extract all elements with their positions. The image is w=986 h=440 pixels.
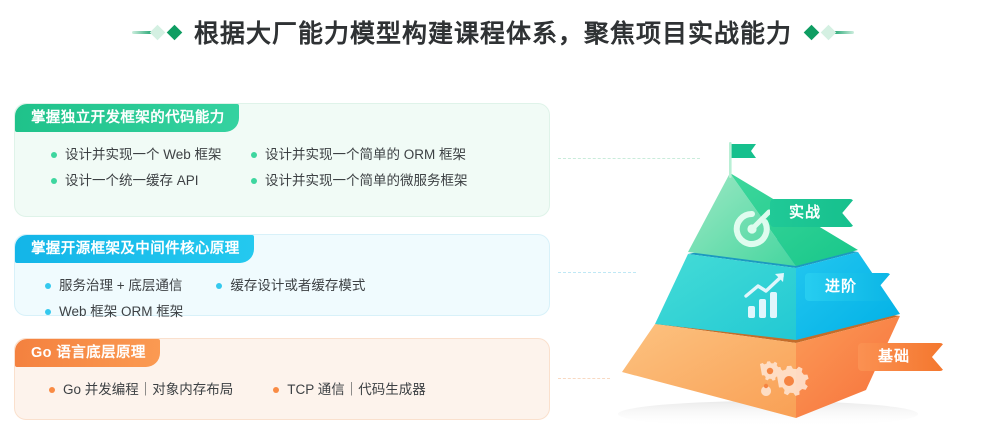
card-practical-skills: 掌握独立开发框架的代码能力 设计并实现一个 Web 框架 设计并实现一个简单的 … <box>14 103 550 217</box>
list-item: 设计并实现一个 Web 框架 <box>51 142 251 168</box>
level-banner-practical: 实战 <box>770 199 854 227</box>
pyramid-illustration <box>600 128 986 428</box>
bullet-dot-icon <box>51 152 57 158</box>
list-item: Go 并发编程｜对象内存布局 <box>49 377 233 403</box>
level-banner-advanced: 进阶 <box>805 273 891 301</box>
card-body: 服务治理 + 底层通信 缓存设计或者缓存模式 Web 框架 ORM 框架 <box>15 263 549 337</box>
list-item-label: Go 并发编程｜对象内存布局 <box>63 377 233 403</box>
list-item-label: 设计并实现一个简单的 ORM 框架 <box>265 142 466 168</box>
bullet-dot-icon <box>45 309 51 315</box>
bullet-dot-icon <box>45 283 51 289</box>
bullet-list: 设计并实现一个 Web 框架 设计并实现一个简单的 ORM 框架 设计一个统一缓… <box>15 142 549 194</box>
bullet-dot-icon <box>51 178 57 184</box>
bullet-dot-icon <box>251 178 257 184</box>
list-item: 设计并实现一个简单的 ORM 框架 <box>251 142 511 168</box>
card-framework-principles: 掌握开源框架及中间件核心原理 服务治理 + 底层通信 缓存设计或者缓存模式 We… <box>14 234 550 316</box>
list-item-label: 服务治理 + 底层通信 <box>59 273 182 299</box>
card-body: 设计并实现一个 Web 框架 设计并实现一个简单的 ORM 框架 设计一个统一缓… <box>15 132 549 206</box>
list-item-label: TCP 通信｜代码生成器 <box>287 377 426 403</box>
bullet-dot-icon <box>273 387 279 393</box>
list-item: TCP 通信｜代码生成器 <box>273 377 426 403</box>
list-item: Web 框架 ORM 框架 <box>45 299 183 325</box>
card-tag: 掌握开源框架及中间件核心原理 <box>15 235 254 263</box>
card-tag: 掌握独立开发框架的代码能力 <box>15 104 239 132</box>
list-item: 设计并实现一个简单的微服务框架 <box>251 168 511 194</box>
list-item: 设计一个统一缓存 API <box>51 168 251 194</box>
card-body: Go 并发编程｜对象内存布局 TCP 通信｜代码生成器 <box>15 367 549 415</box>
list-item-label: Web 框架 ORM 框架 <box>59 299 183 325</box>
bullet-list: Go 并发编程｜对象内存布局 TCP 通信｜代码生成器 <box>15 377 549 403</box>
flag-icon <box>729 142 756 178</box>
bullet-list: 服务治理 + 底层通信 缓存设计或者缓存模式 Web 框架 ORM 框架 <box>15 273 549 325</box>
bullet-dot-icon <box>49 387 55 393</box>
diamond-deco-right-icon <box>806 27 854 38</box>
list-item-label: 设计并实现一个简单的微服务框架 <box>265 168 468 194</box>
level-banner-fundamentals: 基础 <box>858 343 944 371</box>
page-title: 根据大厂能力模型构建课程体系，聚焦项目实战能力 <box>194 14 792 50</box>
card-go-fundamentals: Go 语言底层原理 Go 并发编程｜对象内存布局 TCP 通信｜代码生成器 <box>14 338 550 420</box>
page-header: 根据大厂能力模型构建课程体系，聚焦项目实战能力 <box>0 14 986 50</box>
list-item-label: 设计并实现一个 Web 框架 <box>65 142 222 168</box>
bullet-dot-icon <box>251 152 257 158</box>
list-item-label: 设计一个统一缓存 API <box>65 168 199 194</box>
diamond-deco-left-icon <box>132 27 180 38</box>
course-system-infographic: 根据大厂能力模型构建课程体系，聚焦项目实战能力 掌握独立开发框架的代码能力 设计… <box>0 0 986 440</box>
list-item: 缓存设计或者缓存模式 <box>216 273 365 299</box>
card-tag: Go 语言底层原理 <box>15 339 160 367</box>
list-item-label: 缓存设计或者缓存模式 <box>230 273 365 299</box>
list-item: 服务治理 + 底层通信 <box>45 273 182 299</box>
bullet-dot-icon <box>216 283 222 289</box>
